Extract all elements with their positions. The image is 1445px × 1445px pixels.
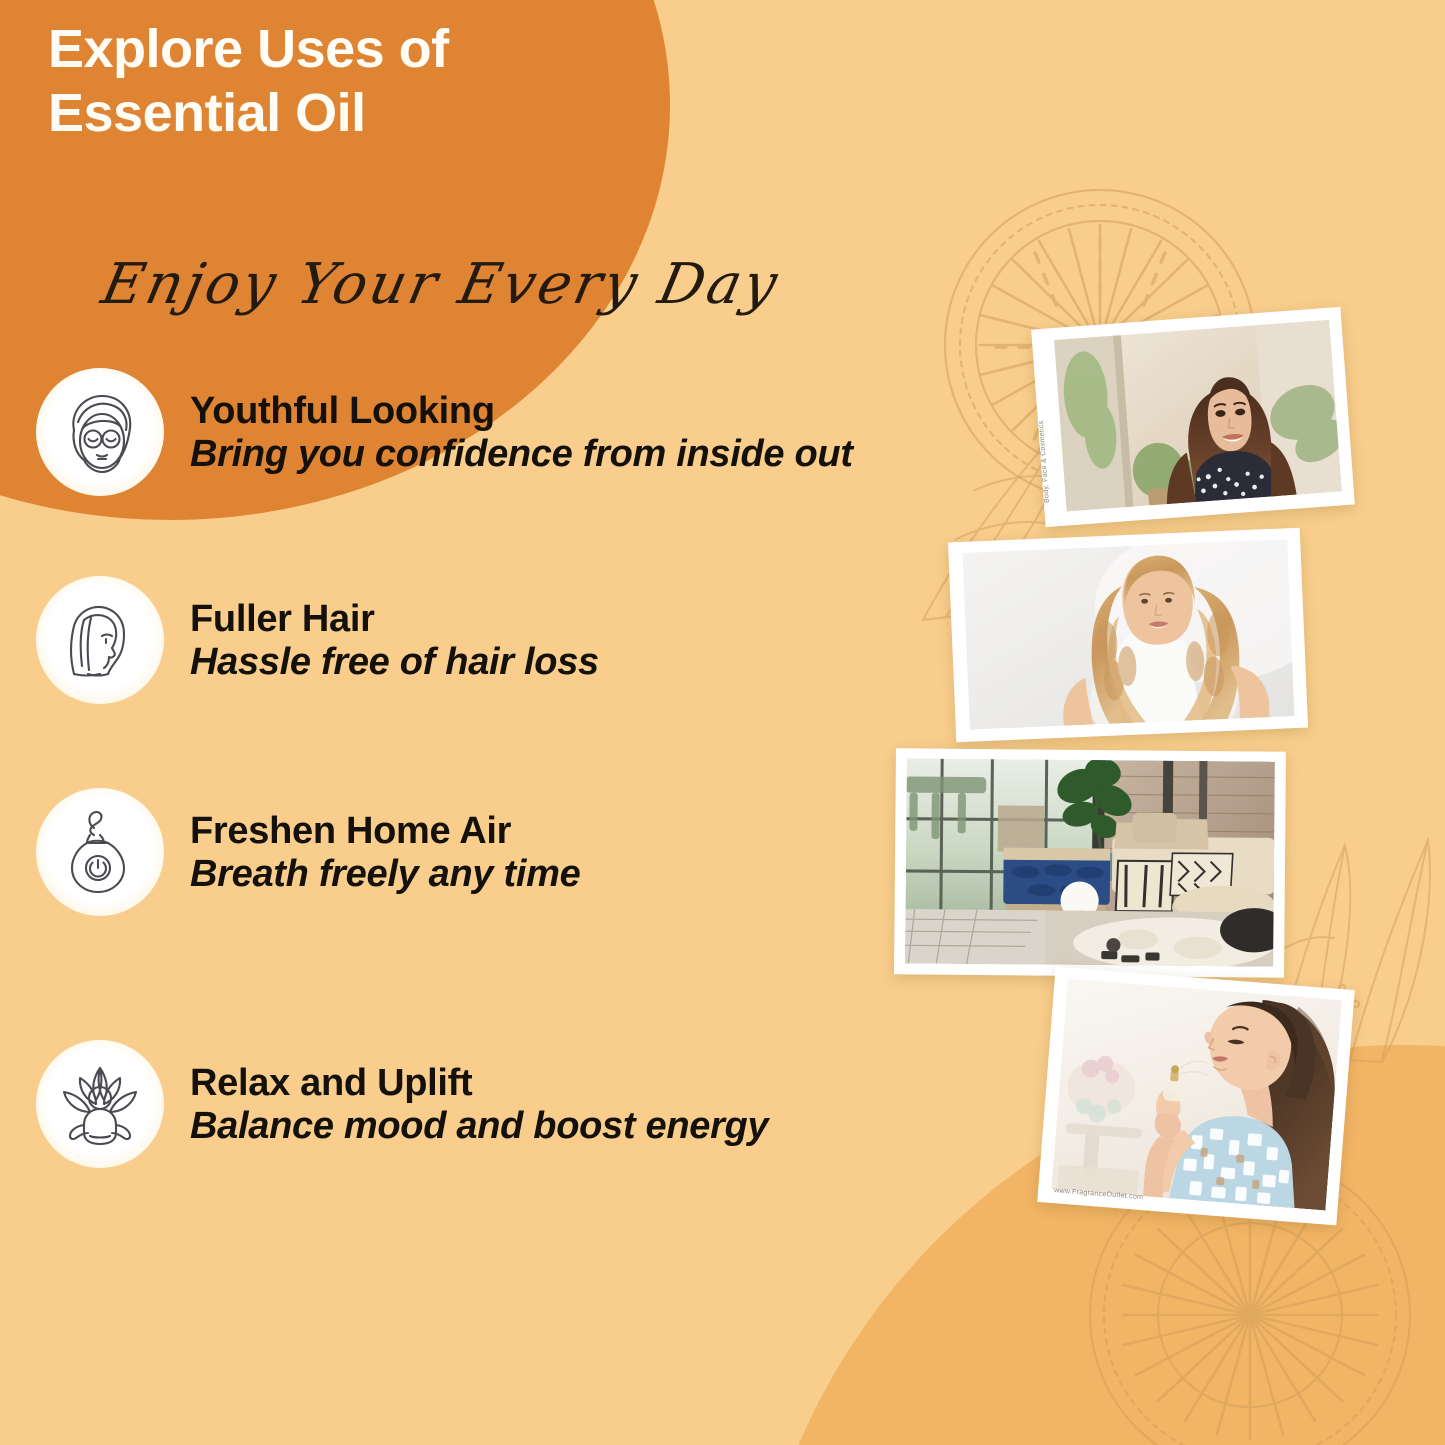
feature-item-relax-and-uplift[interactable]: Relax and Uplift Balance mood and boost … [36, 1040, 768, 1168]
photo-smiling-woman: Body, Face & Cosmetics [1031, 307, 1355, 527]
feature-item-freshen-home-air[interactable]: Freshen Home Air Breath freely any time [36, 788, 580, 916]
feature-title: Fuller Hair [190, 598, 599, 641]
photo-wavy-blonde-hair [948, 528, 1308, 743]
infographic-poster: Explore Uses of Essential Oil Enjoy Your… [0, 0, 1445, 1445]
photo-image [1051, 979, 1342, 1211]
feature-title: Relax and Uplift [190, 1062, 768, 1105]
feature-item-youthful-looking[interactable]: Youthful Looking Bring you confidence fr… [36, 368, 853, 496]
feature-text: Fuller Hair Hassle free of hair loss [190, 596, 599, 685]
lotus-meditation-icon [36, 1040, 164, 1168]
feature-subtitle: Breath freely any time [190, 852, 580, 896]
photo-watermark: Body, Face & Cosmetics [1038, 420, 1051, 503]
feature-subtitle: Balance mood and boost energy [190, 1104, 768, 1148]
photo-image [905, 758, 1275, 966]
feature-subtitle: Hassle free of hair loss [190, 640, 599, 684]
feature-subtitle: Bring you confidence from inside out [190, 432, 853, 476]
feature-title: Youthful Looking [190, 390, 853, 433]
page-title: Explore Uses of Essential Oil [48, 18, 608, 145]
long-hair-profile-icon [36, 576, 164, 704]
photo-cozy-living-room [894, 748, 1286, 977]
photo-woman-perfume: www.FragranceOutlet.com [1037, 967, 1355, 1226]
feature-text: Relax and Uplift Balance mood and boost … [190, 1060, 768, 1149]
feature-text: Youthful Looking Bring you confidence fr… [190, 388, 853, 477]
photo-image [962, 539, 1294, 729]
feature-text: Freshen Home Air Breath freely any time [190, 808, 580, 897]
oil-diffuser-icon [36, 788, 164, 916]
tagline: Enjoy Your Every Day [96, 252, 786, 317]
photo-image [1054, 320, 1342, 512]
face-mask-icon [36, 368, 164, 496]
feature-item-fuller-hair[interactable]: Fuller Hair Hassle free of hair loss [36, 576, 599, 704]
feature-title: Freshen Home Air [190, 810, 580, 853]
